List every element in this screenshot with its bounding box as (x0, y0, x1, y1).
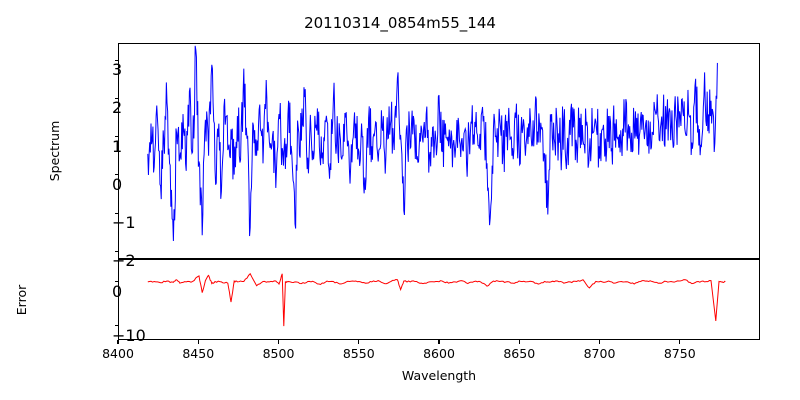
x-tick-mark (599, 340, 600, 344)
x-tick-label: 8400 (78, 346, 158, 361)
error-y-axis-label: Error (15, 225, 29, 375)
error-line-series (119, 260, 759, 339)
x-tick-label: 8500 (239, 346, 319, 361)
x-tick-label: 8650 (479, 346, 559, 361)
x-tick-label: 8750 (640, 346, 720, 361)
figure-canvas: 20110314_0854m55_144 −2−101230−108400845… (0, 0, 800, 400)
x-tick-mark (438, 340, 439, 344)
x-tick-mark (358, 340, 359, 344)
x-axis-label: Wavelength (118, 368, 760, 383)
x-tick-mark (198, 340, 199, 344)
x-tick-mark (519, 340, 520, 344)
x-tick-mark (679, 340, 680, 344)
x-tick-mark (117, 340, 118, 344)
x-tick-label: 8700 (560, 346, 640, 361)
spectrum-line-series (119, 44, 759, 258)
x-tick-label: 8550 (319, 346, 399, 361)
spectrum-plot-area (118, 43, 760, 259)
x-tick-mark (278, 340, 279, 344)
figure-title: 20110314_0854m55_144 (0, 14, 800, 32)
x-tick-label: 8600 (399, 346, 479, 361)
error-plot-area (118, 259, 760, 340)
spectrum-y-axis-label: Spectrum (48, 51, 62, 251)
x-tick-label: 8450 (158, 346, 238, 361)
